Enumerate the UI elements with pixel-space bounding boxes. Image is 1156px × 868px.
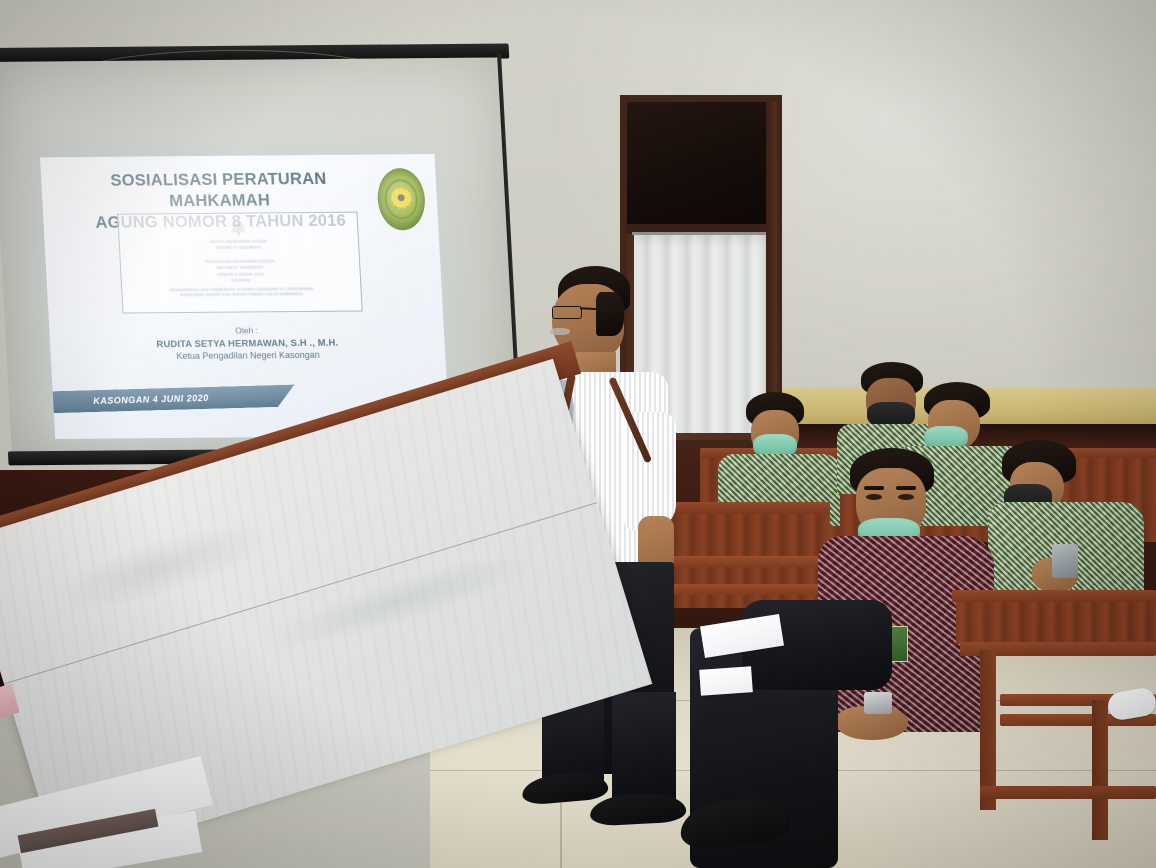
wristwatch — [864, 692, 892, 714]
eyebrow — [864, 486, 884, 490]
bench-stretcher — [980, 786, 1156, 799]
eye — [898, 494, 914, 500]
slide-banner-text: KASONGAN 4 JUNI 2020 — [40, 393, 209, 408]
trouser-leg-right — [612, 692, 676, 802]
door-right-jamb — [766, 102, 777, 440]
shoe-left — [521, 770, 609, 805]
bench-backrest-front — [956, 596, 1156, 644]
doc-body-line: MAHKAMAH AGUNG DAN BADAN PERADILAN DI BA… — [122, 292, 361, 300]
bench-top-rail-front — [952, 590, 1156, 602]
emblem-core — [398, 194, 405, 201]
mustache — [550, 328, 570, 335]
slide-presenter-block: Oleh : RUDITA SETYA HERMAWAN, S.H ., M.H… — [49, 324, 445, 362]
paper-on-bench — [699, 666, 753, 696]
eyebrow — [896, 486, 916, 490]
slide-banner: KASONGAN 4 JUNI 2020 — [40, 384, 296, 413]
presenter-role: Ketua Pengadilan Negeri Kasongan — [51, 348, 446, 361]
photo-scene: SOSIALISASI PERATURAN MAHKAMAH AGUNG NOM… — [0, 0, 1156, 868]
bench-leg — [1092, 700, 1108, 840]
doc-header-line: REPUBLIK INDONESIA — [120, 244, 359, 252]
garuda-crest-icon — [229, 219, 248, 239]
door-transom-panel — [627, 102, 775, 224]
presenter-label: Oleh : — [49, 324, 444, 337]
doc-body-line: TENTANG — [122, 277, 361, 285]
sideburn — [596, 292, 624, 336]
mobile-phone — [1052, 544, 1078, 578]
mahkamah-agung-emblem-icon — [376, 168, 426, 230]
slide-document-box: KETUA MAHKAMAH AGUNG REPUBLIK INDONESIA … — [117, 212, 363, 314]
eye — [866, 494, 882, 500]
shoe-right — [589, 792, 686, 827]
eyeglasses-icon — [552, 306, 582, 319]
slide-title-line-1: SOSIALISASI PERATURAN MAHKAMAH — [110, 170, 327, 210]
